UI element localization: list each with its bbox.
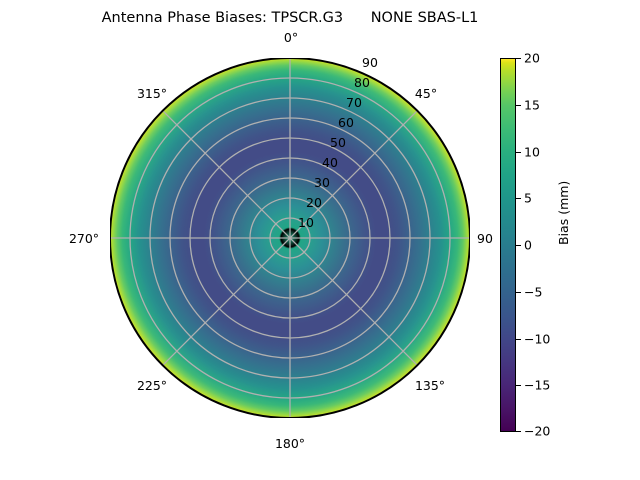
colorbar-tick-10 — [516, 152, 521, 153]
colorbar[interactable]: 20 15 10 5 0 −5 −10 −15 −20 — [500, 58, 516, 432]
polar-plot[interactable]: 10 20 30 40 50 60 70 80 90 — [110, 58, 470, 418]
theta-tick-label-315: 315° — [126, 86, 178, 101]
colorbar-ticklabel-5: 5 — [524, 191, 532, 206]
r-tick-label-20: 20 — [306, 195, 322, 210]
theta-tick-label-90: 90 — [476, 231, 494, 246]
theta-tick-label-45: 45° — [404, 86, 448, 101]
theta-tick-label-270: 270° — [58, 231, 110, 246]
colorbar-tick-m5 — [516, 292, 521, 293]
theta-tick-label-225: 225° — [126, 378, 178, 393]
r-tick-label-30: 30 — [314, 175, 330, 190]
colorbar-tick-m15 — [516, 385, 521, 386]
colorbar-tick-20 — [516, 58, 521, 59]
r-tick-label-80: 80 — [354, 75, 370, 90]
colorbar-tick-15 — [516, 105, 521, 106]
polar-plot-svg — [110, 58, 470, 418]
r-tick-label-70: 70 — [346, 95, 362, 110]
r-tick-label-40: 40 — [322, 155, 338, 170]
r-tick-label-60: 60 — [338, 115, 354, 130]
theta-tick-label-180: 180° — [264, 436, 316, 451]
colorbar-ticklabel-m20: −20 — [524, 424, 550, 439]
colorbar-ticklabel-20: 20 — [524, 51, 540, 66]
colorbar-ticklabel-m15: −15 — [524, 378, 550, 393]
colorbar-ticklabel-10: 10 — [524, 144, 540, 159]
polar-grid — [110, 58, 470, 418]
figure-canvas: Antenna Phase Biases: TPSCR.G3 NONE SBAS… — [0, 0, 640, 480]
r-tick-label-90: 90 — [362, 55, 378, 70]
colorbar-ticklabel-15: 15 — [524, 97, 540, 112]
colorbar-ticklabel-m5: −5 — [524, 284, 542, 299]
colorbar-gradient — [500, 58, 516, 432]
r-tick-label-10: 10 — [298, 215, 314, 230]
colorbar-tick-5 — [516, 198, 521, 199]
colorbar-tick-0 — [516, 245, 521, 246]
page-title: Antenna Phase Biases: TPSCR.G3 NONE SBAS… — [0, 10, 580, 26]
colorbar-tick-m10 — [516, 339, 521, 340]
colorbar-ticklabel-m10: −10 — [524, 331, 550, 346]
colorbar-axis-label: Bias (mm) — [556, 181, 571, 245]
colorbar-ticklabel-0: 0 — [524, 238, 532, 253]
theta-tick-label-0: 0° — [271, 30, 311, 45]
theta-tick-label-135: 135° — [404, 378, 456, 393]
r-tick-label-50: 50 — [330, 135, 346, 150]
colorbar-tick-m20 — [516, 431, 521, 432]
